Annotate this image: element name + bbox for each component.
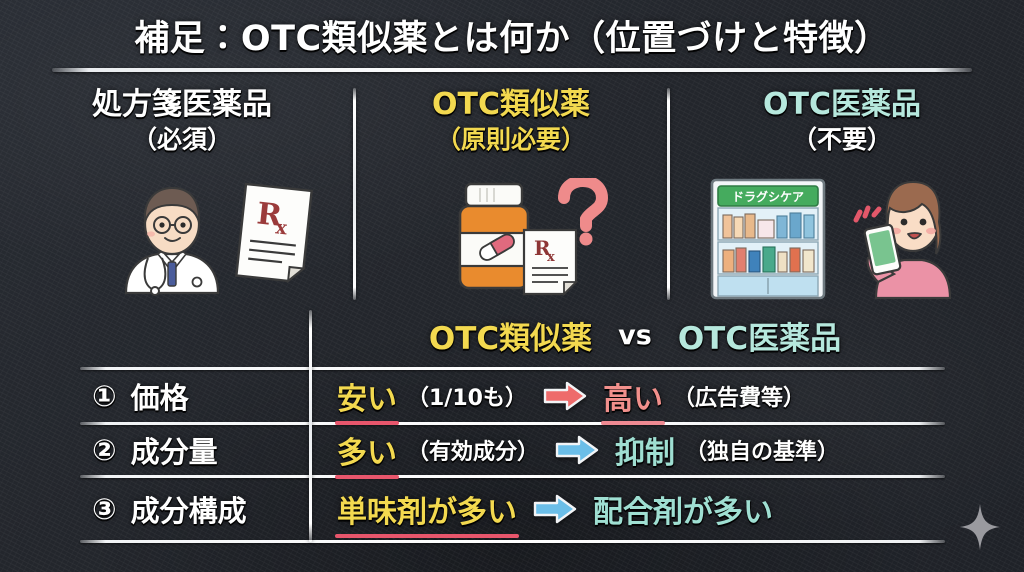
slide-title: 補足：OTC類似薬とは何か（位置づけと特徴） [0, 10, 1024, 61]
prescription-paper-small-icon: R x [524, 230, 576, 294]
row-2-left-term: 多い [337, 428, 397, 472]
arrow-right-red-icon [543, 381, 587, 411]
row-2-left-note: （有効成分） [407, 434, 539, 466]
row-3-body: 単味剤が多い 配合剤が多い [309, 487, 960, 531]
row-3-right-term: 配合剤が多い [593, 487, 773, 531]
comparison-heading: OTC類似薬 vs OTC医薬品 [310, 313, 960, 358]
row-2-right-note: （独自の基準） [685, 434, 839, 466]
table-line-bottom [80, 540, 945, 543]
column-2-title: OTC類似薬 [356, 88, 666, 122]
row-3-label: ③ 成分構成 [80, 488, 309, 530]
row-3-name: 成分構成 [131, 488, 247, 530]
woman-with-smartphone-icon [856, 182, 950, 298]
sparkle-icon [960, 504, 1000, 550]
row-2-body: 多い （有効成分） 抑制 （独自の基準） [309, 428, 960, 472]
column-2-subtitle: （原則必要） [356, 125, 666, 155]
table-row: ② 成分量 多い （有効成分） 抑制 （独自の基準） [80, 425, 960, 475]
row-1-label: ① 価格 [80, 375, 309, 417]
comparison-vs-label: vs [618, 320, 652, 351]
row-2-number: ② [92, 436, 117, 465]
drugstore-shelf-icon: ドラグシケア [712, 180, 824, 298]
svg-text:x: x [547, 250, 555, 265]
comparison-left-label: OTC類似薬 [429, 313, 592, 358]
column-1-title: 処方箋医薬品 [12, 88, 352, 122]
row-1-left-note: （1/10も） [407, 380, 527, 412]
pill-bottle-question-illustration: R x [438, 178, 628, 302]
column-3-subtitle: （不要） [670, 125, 1014, 155]
shelf-sign-label: ドラグシケア [732, 189, 804, 204]
title-underline-rule [52, 68, 972, 72]
drugstore-and-customer-illustration: ドラグシケア [708, 170, 958, 306]
row-3-left-term: 単味剤が多い [337, 487, 517, 531]
row-1-number: ① [92, 382, 117, 411]
row-1-left-term: 安い [337, 374, 397, 418]
column-1-subtitle: （必須） [12, 125, 352, 155]
comparison-right-label: OTC医薬品 [678, 313, 841, 358]
column-3-title: OTC医薬品 [670, 88, 1014, 122]
table-row: ③ 成分構成 単味剤が多い 配合剤が多い [80, 478, 960, 540]
arrow-right-blue-icon [533, 494, 577, 524]
doctor-icon [126, 188, 218, 295]
row-2-label: ② 成分量 [80, 429, 309, 471]
column-otc-drug: OTC医薬品 （不要） [670, 88, 1014, 155]
slide-root: 補足：OTC類似薬とは何か（位置づけと特徴） 処方箋医薬品 （必須） OTC類似… [0, 0, 1024, 572]
prescription-paper-icon: R x [236, 184, 311, 282]
row-2-right-term: 抑制 [615, 428, 675, 472]
row-1-right-note: （広告費等） [673, 380, 805, 412]
pill-bottle-icon [460, 184, 528, 288]
row-2-name: 成分量 [131, 429, 218, 471]
column-prescription-drug: 処方箋医薬品 （必須） [12, 88, 352, 155]
column-otc-similar-drug: OTC類似薬 （原則必要） [356, 88, 666, 155]
row-1-name: 価格 [131, 375, 189, 417]
row-1-body: 安い （1/10も） 高い （広告費等） [309, 374, 960, 418]
doctor-and-prescription-illustration: R x [96, 178, 346, 302]
arrow-right-blue-icon [555, 435, 599, 465]
table-row: ① 価格 安い （1/10も） 高い （広告費等） [80, 370, 960, 422]
row-3-number: ③ [92, 495, 117, 524]
row-1-right-term: 高い [603, 374, 663, 418]
